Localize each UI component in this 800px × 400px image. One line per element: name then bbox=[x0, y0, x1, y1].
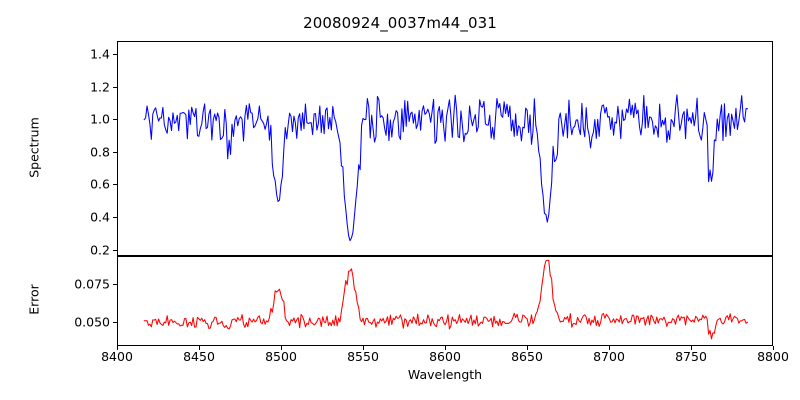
error-y-tick bbox=[113, 284, 117, 285]
spectrum-y-tick bbox=[113, 87, 117, 88]
spectrum-y-tick bbox=[113, 250, 117, 251]
spectrum-axis-label: Spectrum bbox=[27, 87, 42, 207]
wavelength-tick-label: 8550 bbox=[347, 349, 379, 364]
spectrum-y-tick bbox=[113, 54, 117, 55]
wavelength-tick-label: 8650 bbox=[511, 349, 543, 364]
spectrum-y-tick bbox=[113, 152, 117, 153]
wavelength-tick-label: 8500 bbox=[265, 349, 297, 364]
error-axis-label: Error bbox=[27, 240, 42, 360]
spectrum-y-tick-label: 0.8 bbox=[90, 144, 110, 159]
spectrum-y-tick-label: 1.4 bbox=[90, 47, 110, 62]
wavelength-tick-label: 8800 bbox=[757, 349, 789, 364]
error-y-tick-label: 0.075 bbox=[74, 277, 110, 292]
spectrum-plot-area bbox=[117, 41, 773, 256]
error-trace bbox=[144, 260, 747, 339]
spectrum-y-tick bbox=[113, 184, 117, 185]
error-y-tick bbox=[113, 322, 117, 323]
spectrum-y-tick-label: 0.4 bbox=[90, 209, 110, 224]
spectrum-y-tick bbox=[113, 217, 117, 218]
wavelength-tick-label: 8600 bbox=[429, 349, 461, 364]
spectrum-y-tick bbox=[113, 119, 117, 120]
spectrum-y-tick-label: 1.2 bbox=[90, 79, 110, 94]
spectrum-y-tick-label: 1.0 bbox=[90, 112, 110, 127]
wavelength-tick-label: 8450 bbox=[183, 349, 215, 364]
wavelength-axis-label: Wavelength bbox=[117, 367, 773, 382]
spectrum-trace bbox=[144, 95, 747, 241]
wavelength-tick-label: 8700 bbox=[593, 349, 625, 364]
spectrum-y-tick-label: 0.6 bbox=[90, 177, 110, 192]
page-title: 20080924_0037m44_031 bbox=[0, 14, 800, 32]
spectrum-y-tick-label: 0.2 bbox=[90, 242, 110, 257]
wavelength-tick-label: 8400 bbox=[101, 349, 133, 364]
error-y-tick-label: 0.050 bbox=[74, 315, 110, 330]
error-plot-area bbox=[117, 256, 773, 346]
figure-canvas: 20080924_0037m44_031 Spectrum Error Wave… bbox=[0, 0, 800, 400]
wavelength-tick-label: 8750 bbox=[675, 349, 707, 364]
error-line-series bbox=[118, 257, 772, 345]
spectrum-line-series bbox=[118, 42, 772, 255]
